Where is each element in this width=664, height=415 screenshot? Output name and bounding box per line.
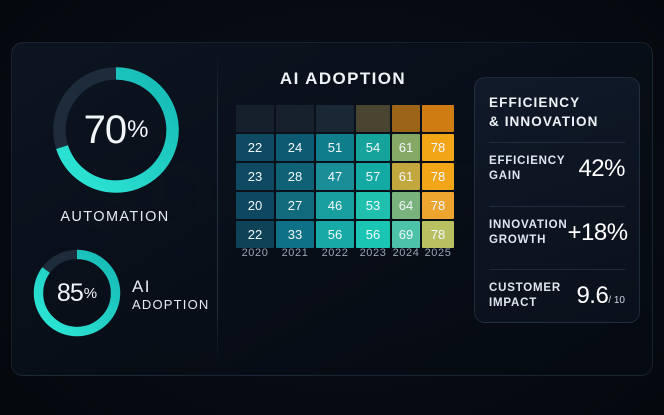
heatmap-cell[interactable]: 57 [356, 163, 390, 190]
heatmap-cell[interactable]: 22 [236, 134, 274, 161]
heatmap-year-label: 2025 [422, 247, 454, 259]
heatmap-cell[interactable]: 56 [356, 221, 390, 248]
stat-value-suffix: / 10 [608, 295, 625, 306]
heatmap-cell[interactable]: 28 [276, 163, 314, 190]
heatmap-cell[interactable]: 20 [236, 192, 274, 219]
heatmap-cell[interactable]: 78 [422, 221, 454, 248]
heatmap-cell[interactable]: 78 [422, 134, 454, 161]
stat-label-innovation-growth: INNOVATION GROWTH [489, 218, 568, 248]
stat-value-customer-impact: 9.6/ 10 [576, 282, 625, 310]
heatmap-grid[interactable]: 2224515461782328475761782027465364782233… [236, 105, 444, 248]
heatmap-cell[interactable]: 69 [392, 221, 420, 248]
heatmap-cell[interactable]: 56 [316, 221, 354, 248]
gauge-ai-adoption-label-line1: AI [132, 276, 218, 297]
heatmap-year-label: 2020 [236, 247, 274, 259]
heatmap-header-cell[interactable] [392, 105, 420, 132]
stats-title-line1: EFFICIENCY [489, 95, 580, 110]
gauge-automation[interactable]: 70% [47, 61, 185, 199]
gauge-ai-adoption[interactable]: 85% [30, 246, 124, 340]
stats-title-line2: & INNOVATION [489, 112, 625, 131]
heatmap-axis-years: 202020212022202320242025 [236, 247, 444, 259]
heatmap-year-label: 2024 [392, 247, 420, 259]
heatmap-cell[interactable]: 51 [316, 134, 354, 161]
heatmap-cell[interactable]: 61 [392, 134, 420, 161]
stat-label-line1: INNOVATION [489, 219, 568, 231]
heatmap-cell[interactable]: 54 [356, 134, 390, 161]
stat-label-line1: EFFICIENCY [489, 155, 565, 167]
stat-value-efficiency-gain: 42% [578, 155, 625, 183]
stats-card: EFFICIENCY & INNOVATION EFFICIENCY GAIN … [474, 77, 640, 323]
heatmap-cell[interactable]: 78 [422, 192, 454, 219]
gauge-ai-adoption-value: 85% [30, 246, 124, 340]
stat-value-innovation-growth: +18% [568, 219, 628, 247]
heatmap-cell[interactable]: 23 [236, 163, 274, 190]
heatmap-header-cell[interactable] [276, 105, 314, 132]
heatmap-cell[interactable]: 61 [392, 163, 420, 190]
heatmap-cell[interactable]: 24 [276, 134, 314, 161]
heatmap-cell[interactable]: 47 [316, 163, 354, 190]
heatmap-year-label: 2023 [356, 247, 390, 259]
heatmap-cell[interactable]: 27 [276, 192, 314, 219]
stat-row-efficiency-gain[interactable]: EFFICIENCY GAIN 42% [489, 143, 625, 194]
stat-label-line2: GAIN [489, 169, 565, 184]
heatmap-cell[interactable]: 46 [316, 192, 354, 219]
stat-label-line2: IMPACT [489, 296, 561, 311]
stat-row-customer-impact[interactable]: CUSTOMER IMPACT 9.6/ 10 [489, 270, 625, 321]
heatmap-header-cell[interactable] [316, 105, 354, 132]
heatmap-cell[interactable]: 53 [356, 192, 390, 219]
stats-title: EFFICIENCY & INNOVATION [489, 93, 625, 131]
heatmap-header-cell[interactable] [236, 105, 274, 132]
heatmap-pane: AI ADOPTION 2224515461782328475761782027… [218, 43, 468, 377]
stats-pane: EFFICIENCY & INNOVATION EFFICIENCY GAIN … [474, 77, 640, 323]
dashboard-stage: SDLCORP 70% AUTOM [0, 0, 664, 415]
stat-row-innovation-growth[interactable]: INNOVATION GROWTH +18% [489, 207, 625, 258]
heatmap-cell[interactable]: 64 [392, 192, 420, 219]
heatmap-header-cell[interactable] [356, 105, 390, 132]
stat-label-line1: CUSTOMER [489, 282, 561, 294]
heatmap-title: AI ADOPTION [218, 69, 468, 89]
stat-label-line2: GROWTH [489, 233, 568, 248]
gauge-ai-adoption-label-line2: ADOPTION [132, 297, 218, 313]
gauge-automation-value: 70% [47, 61, 185, 199]
gauges-pane: 70% AUTOMATION 85% [12, 43, 218, 377]
heatmap-year-label: 2021 [276, 247, 314, 259]
dashboard-card: 70% AUTOMATION 85% [11, 42, 653, 376]
stat-label-efficiency-gain: EFFICIENCY GAIN [489, 154, 565, 184]
stat-label-customer-impact: CUSTOMER IMPACT [489, 281, 561, 311]
gauge-ai-adoption-label: AI ADOPTION [132, 276, 218, 314]
heatmap-cell[interactable]: 33 [276, 221, 314, 248]
heatmap-header-cell[interactable] [422, 105, 454, 132]
heatmap-cell[interactable]: 78 [422, 163, 454, 190]
heatmap-year-label: 2022 [316, 247, 354, 259]
heatmap-cell[interactable]: 22 [236, 221, 274, 248]
gauge-automation-label: AUTOMATION [12, 209, 218, 225]
